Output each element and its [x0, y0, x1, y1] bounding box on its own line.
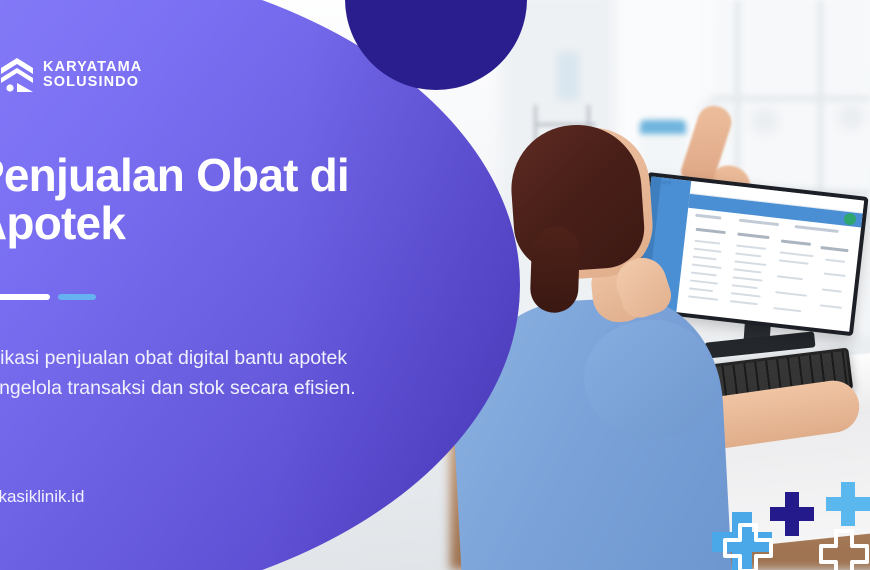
karyatama-chevron-logo-icon — [0, 57, 34, 93]
window-frame — [713, 96, 870, 101]
hero-content: KARYATAMA SOLUSINDO Penjualan Obat di Ap… — [0, 0, 452, 570]
brand-logo: KARYATAMA SOLUSINDO — [0, 57, 142, 93]
brand-name-line1: KARYATAMA — [43, 60, 142, 75]
promo-banner: Care — [0, 0, 870, 570]
medical-cross-sky — [826, 482, 870, 526]
medical-cross-outline-right — [818, 528, 870, 570]
website-url: aplikasiklinik.id — [0, 487, 84, 507]
divider-bar-white — [0, 294, 50, 300]
dispenser-cap — [640, 120, 686, 134]
page-title: Penjualan Obat di Apotek — [0, 152, 454, 248]
brand-name: KARYATAMA SOLUSINDO — [43, 60, 142, 90]
medical-cross-navy — [770, 492, 814, 536]
wall-knob — [752, 108, 778, 134]
divider — [0, 294, 96, 300]
brand-name-line2: SOLUSINDO — [43, 75, 142, 90]
divider-bar-blue — [58, 294, 96, 300]
body-text: Aplikasi penjualan obat digital bantu ap… — [0, 344, 392, 403]
bottle — [557, 52, 579, 100]
medical-cross-outline-left — [722, 522, 774, 570]
wall-knob — [838, 104, 864, 130]
